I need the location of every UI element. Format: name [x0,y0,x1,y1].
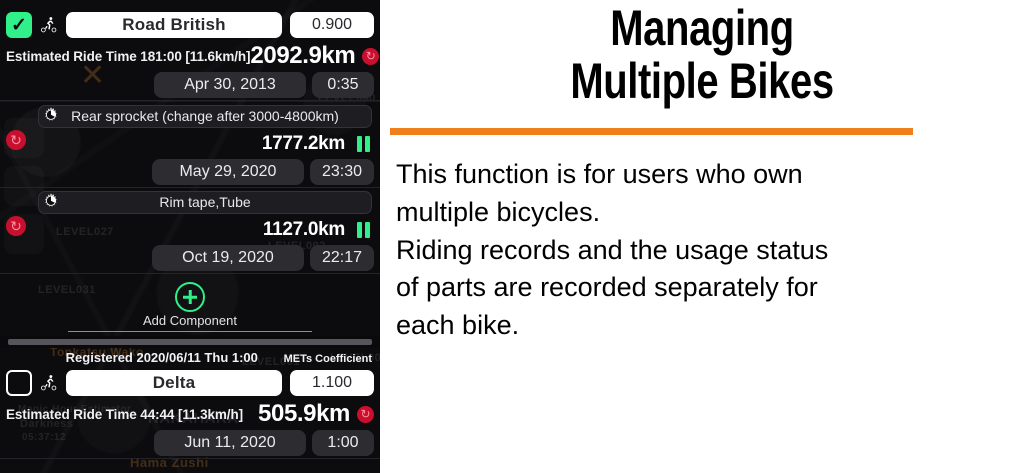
component-name-field[interactable]: Rim tape,Tube [38,191,372,214]
title-line-2: Multiple Bikes [444,55,959,108]
component-distance: 1127.0km [263,219,345,241]
section-divider [0,336,380,348]
slide-panel: Managing Multiple Bikes This function is… [380,0,1024,473]
estimated-ride-row: Estimated Ride Time 181:00 [11.6km/h] 20… [0,42,380,70]
bike-header-row[interactable]: Delta 1.100 [0,366,380,400]
body-line: of parts are recorded separately for [396,269,996,307]
component-row-rear-sprocket[interactable]: Rear sprocket (change after 3000-4800km)… [0,102,380,187]
bike-select-checkbox[interactable]: ✓ [6,12,32,38]
gear-icon [41,192,61,212]
component-reset-icon[interactable] [6,216,26,236]
body-line: each bike. [396,307,996,345]
component-distance-row: 1127.0km [0,216,380,243]
bike-card-road-british[interactable]: ✓ Road British 0.900 Estimat [0,8,380,336]
bike-header-row[interactable]: ✓ Road British 0.900 [0,8,380,42]
component-name-field[interactable]: Rear sprocket (change after 3000-4800km) [38,105,372,128]
component-row-rim-tape-tube[interactable]: Rim tape,Tube 1127.0km Oct 19, 2020 22:1… [0,188,380,273]
bike-select-checkbox[interactable] [6,370,32,396]
reset-icon[interactable] [357,406,374,423]
pause-bars-icon[interactable] [357,222,370,238]
scroll-indicator[interactable] [8,339,372,345]
page-title: Managing Multiple Bikes [444,2,959,107]
mets-coefficient-field[interactable]: 1.100 [290,370,374,396]
bike-list[interactable]: ✓ Road British 0.900 Estimat [0,0,380,473]
bike-card-delta[interactable]: Registered 2020/06/11 Thu 1:00 METs Coef… [0,348,380,459]
component-distance: 1777.2km [262,133,345,155]
reset-icon[interactable] [362,48,379,65]
component-date-pill[interactable]: Oct 19, 2020 [152,245,304,271]
bike-date-pill[interactable]: Apr 30, 2013 [154,72,306,98]
bike-time-pill[interactable]: 1:00 [312,430,374,456]
title-accent-rule [390,128,913,135]
next-add-component-partial[interactable] [0,459,380,473]
gear-icon [41,106,61,126]
body-line: This function is for users who own [396,156,996,194]
component-date-pill[interactable]: May 29, 2020 [152,159,304,185]
component-reset-icon[interactable] [6,130,26,150]
bike-app-panel: ✕ LEVEL040 LEVEL027 LEVEL002 LEVEL031 LE… [0,0,380,473]
title-line-1: Managing [444,2,959,55]
component-time-pill[interactable]: 23:30 [310,159,374,185]
cyclist-icon [40,14,58,36]
component-date-row[interactable]: Oct 19, 2020 22:17 [0,243,380,273]
mets-coefficient-field[interactable]: 0.900 [290,12,374,38]
plus-circle-icon[interactable] [175,282,205,312]
registration-row: Registered 2020/06/11 Thu 1:00 METs Coef… [0,348,380,366]
cyclist-icon [40,372,58,394]
mets-coefficient-label: METs Coefficient [284,353,372,365]
slide-body-text: This function is for users who own multi… [396,156,996,345]
bike-date-pill[interactable]: Jun 11, 2020 [154,430,306,456]
component-time-pill[interactable]: 22:17 [310,245,374,271]
estimated-ride-row: Estimated Ride Time 44:44 [11.3km/h] 505… [0,400,380,428]
estimated-ride-time: Estimated Ride Time 44:44 [11.3km/h] [6,407,243,422]
add-component-label: Add Component [143,313,237,328]
screenshot-root: ✕ LEVEL040 LEVEL027 LEVEL002 LEVEL031 LE… [0,0,1024,473]
body-line: Riding records and the usage status [396,232,996,270]
bike-total-distance: 2092.9km [250,42,355,70]
bike-time-pill[interactable]: 0:35 [312,72,374,98]
component-distance-row: 1777.2km [0,130,380,157]
bike-total-distance: 505.9km [258,400,350,428]
bike-date-row[interactable]: Apr 30, 2013 0:35 [0,70,380,100]
pause-bars-icon[interactable] [357,136,370,152]
bike-name-field[interactable]: Delta [66,370,282,396]
panel-top-gap [0,0,380,8]
component-header[interactable]: Rim tape,Tube [0,188,380,216]
bike-date-row[interactable]: Jun 11, 2020 1:00 [0,428,380,458]
component-date-row[interactable]: May 29, 2020 23:30 [0,157,380,187]
divider [68,331,312,333]
bike-name-field[interactable]: Road British [66,12,282,38]
registered-date: Registered 2020/06/11 Thu 1:00 [0,350,284,365]
component-header[interactable]: Rear sprocket (change after 3000-4800km) [0,102,380,130]
add-component-button[interactable]: Add Component [0,274,380,336]
estimated-ride-time: Estimated Ride Time 181:00 [11.6km/h] [6,49,250,64]
body-line: multiple bicycles. [396,194,996,232]
